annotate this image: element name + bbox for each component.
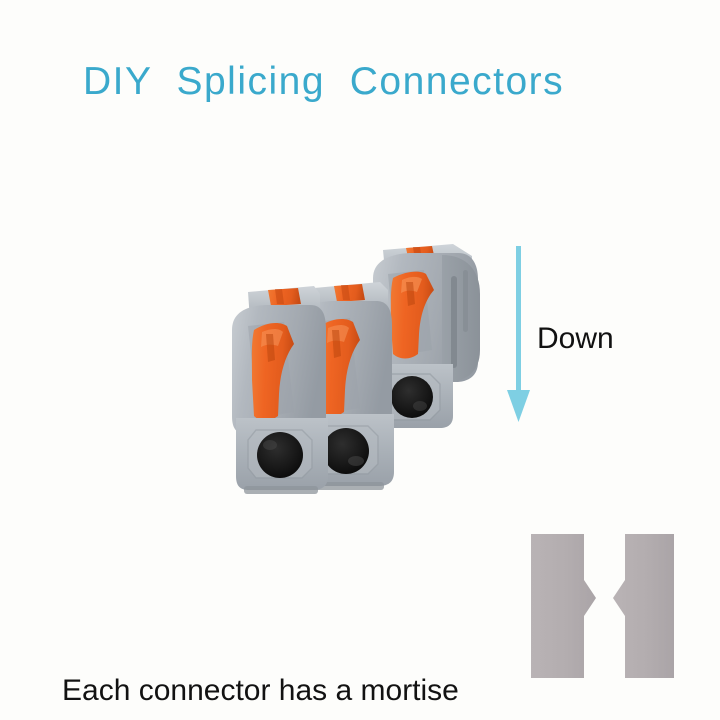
direction-label: Down <box>537 322 614 356</box>
caption-line-1: Each connector has a mortise <box>62 664 459 717</box>
wire-port <box>257 432 303 478</box>
connector-front-left <box>232 286 328 494</box>
product-feature-image: DIY Splicing Connectors <box>0 0 720 720</box>
mortise-tenon-diagram <box>520 518 685 690</box>
product-image <box>210 230 500 510</box>
caption-text: Each connector has a mortise and tenon o… <box>62 558 459 720</box>
connector-stack-illustration <box>210 230 500 510</box>
tenon-bar <box>531 534 596 678</box>
mortise-bar <box>613 534 674 678</box>
wire-port <box>391 376 433 418</box>
arrow-down-icon <box>503 246 537 426</box>
wire-port <box>323 428 369 474</box>
page-title: DIY Splicing Connectors <box>83 60 564 104</box>
